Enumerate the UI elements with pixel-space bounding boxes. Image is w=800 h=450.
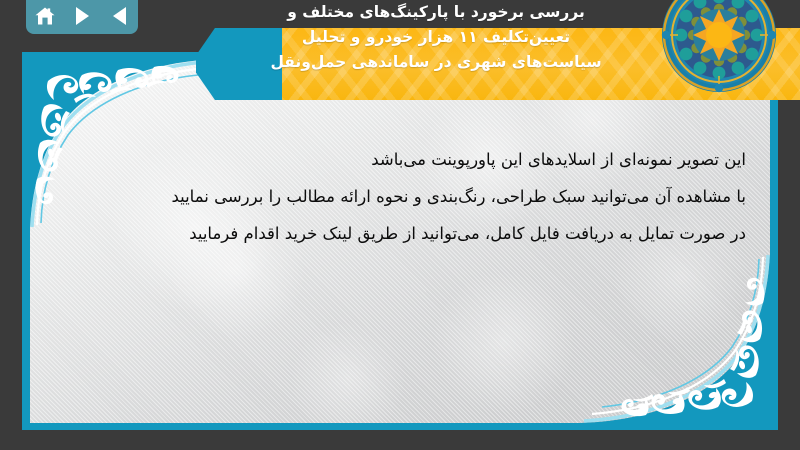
persian-medallion-icon — [660, 0, 778, 94]
previous-slide-button[interactable] — [106, 4, 132, 28]
slide-frame: این تصویر نمونه‌ای از اسلایدهای این پاور… — [22, 52, 778, 430]
triangle-right-icon — [76, 7, 89, 25]
arabesque-corner-ornament-bottom-right — [580, 253, 770, 423]
triangle-left-icon — [113, 7, 126, 25]
body-line-2: با مشاهده آن می‌توانید سبک طراحی، رنگ‌بن… — [46, 178, 746, 215]
home-icon — [34, 6, 56, 26]
body-line-1: این تصویر نمونه‌ای از اسلایدهای این پاور… — [46, 141, 746, 178]
slide-body-text: این تصویر نمونه‌ای از اسلایدهای این پاور… — [46, 141, 746, 252]
next-slide-button[interactable] — [69, 4, 95, 28]
slide-viewer: این تصویر نمونه‌ای از اسلایدهای این پاور… — [0, 0, 800, 450]
body-line-3: در صورت تمایل به دریافت فایل کامل، می‌تو… — [46, 215, 746, 252]
home-button[interactable] — [32, 4, 58, 28]
navigation-bar — [26, 0, 138, 34]
title-line-1: بررسی برخورد با پارکینگ‌های مختلف و — [200, 0, 672, 25]
slide-surface: این تصویر نمونه‌ای از اسلایدهای این پاور… — [30, 59, 770, 423]
title-line-2: تعیین‌تکلیف ۱۱ هزار خودرو و تحلیل — [200, 25, 672, 50]
